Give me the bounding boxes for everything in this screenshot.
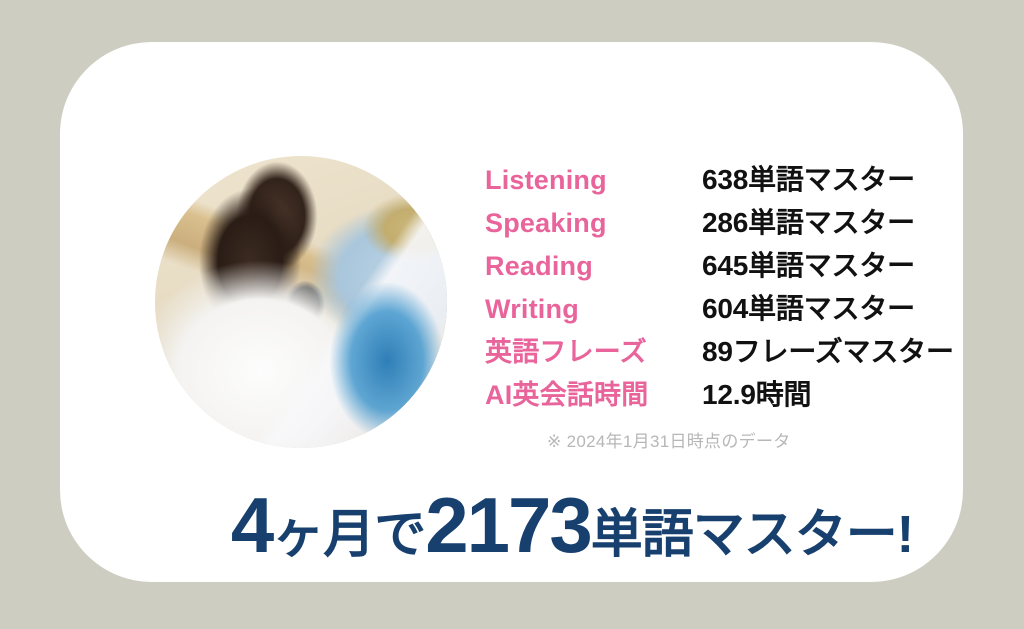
- stat-value-listening: 638単語マスター: [702, 158, 915, 198]
- headline-months-unit: ヶ月で: [272, 506, 425, 564]
- stat-label-listening: Listening: [485, 165, 702, 196]
- stat-value-speaking: 286単語マスター: [702, 201, 915, 241]
- data-footnote: ※ 2024年1月31日時点のデータ: [547, 427, 791, 452]
- table-row: Reading 645単語マスター: [485, 244, 985, 287]
- results-card-stage: Listening 638単語マスター Speaking 286単語マスター R…: [0, 0, 1024, 629]
- table-row: Speaking 286単語マスター: [485, 201, 985, 244]
- stat-value-english-phrases: 89フレーズマスター: [702, 330, 954, 370]
- student-photo-image: [155, 156, 447, 448]
- headline-months-number: 4: [231, 481, 272, 569]
- stat-label-reading: Reading: [485, 251, 702, 282]
- stat-label-english-phrases: 英語フレーズ: [485, 330, 702, 369]
- results-card: Listening 638単語マスター Speaking 286単語マスター R…: [60, 42, 963, 582]
- stat-value-writing: 604単語マスター: [702, 287, 915, 327]
- stat-label-speaking: Speaking: [485, 208, 702, 239]
- table-row: Listening 638単語マスター: [485, 158, 985, 201]
- headline-words-number: 2173: [425, 481, 591, 569]
- table-row: AI英会話時間 12.9時間: [485, 373, 985, 416]
- stats-list: Listening 638単語マスター Speaking 286単語マスター R…: [485, 158, 985, 416]
- headline: 4ヶ月で2173単語マスター!: [60, 486, 1024, 564]
- table-row: 英語フレーズ 89フレーズマスター: [485, 330, 985, 373]
- student-photo: [155, 156, 447, 448]
- stat-value-ai-conversation-time: 12.9時間: [702, 373, 811, 413]
- stat-label-ai-conversation-time: AI英会話時間: [485, 373, 702, 412]
- table-row: Writing 604単語マスター: [485, 287, 985, 330]
- stat-value-reading: 645単語マスター: [702, 244, 915, 284]
- headline-words-suffix: 単語マスター!: [591, 506, 913, 564]
- stat-label-writing: Writing: [485, 294, 702, 325]
